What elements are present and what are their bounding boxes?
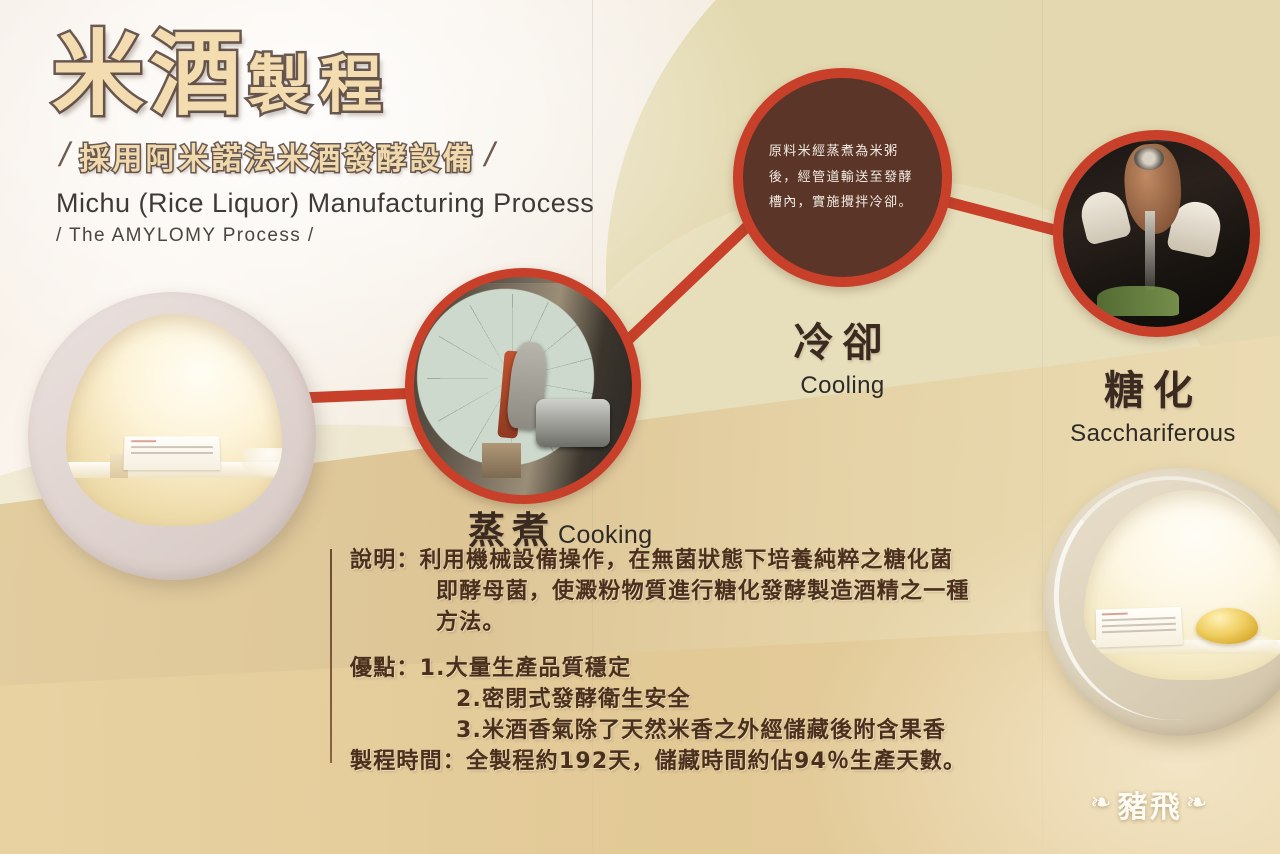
sampling-tube [1145, 211, 1154, 290]
sacchariferous-photo-ring [1053, 130, 1260, 337]
cooling-callout-text: 原料米經蒸煮為米粥後，經管道輸送至發酵槽內，實施攪拌冷卻。 [769, 139, 916, 215]
description-vertical-rule [330, 549, 332, 763]
title-subtitle-cn: 採用阿米諾法米酒發酵設備 [79, 134, 475, 178]
step-label-cooling-cn: 冷卻 [750, 310, 935, 368]
niche-right-label-card [1096, 607, 1183, 648]
card-line [131, 446, 213, 448]
merits-label: 優點： [350, 653, 420, 684]
sacchariferous-photo [1063, 140, 1250, 327]
watermark-text: 豬飛 [1118, 782, 1182, 826]
title-english: Michu (Rice Liquor) Manufacturing Proces… [56, 188, 612, 219]
card-line [1102, 623, 1176, 628]
description-line-1: 利用機械設備操作，在無菌狀態下培養純粹之糖化菌 [420, 545, 954, 576]
step-label-cooling: 冷卻 Cooling [750, 310, 935, 400]
cooling-callout-ring: 原料米經蒸煮為米粥後，經管道輸送至發酵槽內，實施攪拌冷卻。 [733, 68, 952, 287]
cooking-photo [414, 277, 632, 495]
card-line [131, 452, 213, 454]
merits-row: 3.米酒香氣除了天然米香之外經儲藏後附含果香 [350, 715, 1050, 746]
green-tray [1097, 286, 1179, 316]
wristwatch-icon [1134, 147, 1164, 169]
step-node-cooking [405, 268, 641, 504]
description-row: 說明： 利用機械設備操作，在無菌狀態下培養純粹之糖化菌 [350, 545, 1050, 576]
photo-watermark: ❧ 豬飛 ❧ [1090, 782, 1210, 826]
merits-row: 2.密閉式發酵衛生安全 [350, 684, 1050, 715]
card-line [1102, 629, 1176, 634]
cooker-motor [536, 399, 610, 447]
exhibit-panel-photo: 米酒製程 / 採用阿米諾法米酒發酵設備 / Michu (Rice Liquor… [0, 0, 1280, 854]
description-line-2: 即酵母菌，使澱粉物質進行糖化發酵製造酒精之一種 [436, 576, 970, 607]
title-cn-small: 製程 [248, 48, 392, 121]
connector-cooking-to-cooling [628, 222, 752, 340]
description-label: 說明： [350, 545, 420, 576]
description-row: 方法。 [350, 607, 1050, 638]
description-panel: 說明： 利用機械設備操作，在無菌狀態下培養純粹之糖化菌 即酵母菌，使澱粉物質進行… [330, 545, 1050, 778]
title-cn-large: 米酒 [52, 21, 248, 128]
step-label-sacchariferous: 糖化 Sacchariferous [1038, 358, 1268, 448]
title-english-sub: / The AMYLOMY Process / [56, 225, 612, 247]
cooker-crate [482, 443, 521, 478]
process-time-label: 製程時間： [350, 746, 466, 777]
panel-title-block: 米酒製程 / 採用阿米諾法米酒發酵設備 / Michu (Rice Liquor… [52, 28, 612, 247]
card-line [131, 440, 156, 442]
description-row: 即酵母菌，使澱粉物質進行糖化發酵製造酒精之一種 [350, 576, 1050, 607]
page-title: 米酒製程 [52, 28, 612, 122]
merit-item-2: 2.密閉式發酵衛生安全 [456, 684, 691, 715]
step-label-cooling-en: Cooling [750, 372, 935, 400]
valve-funnel-left [1076, 188, 1131, 246]
merits-row: 優點： 1.大量生產品質穩定 [350, 653, 1050, 684]
niche-left-label-card [123, 436, 220, 470]
merit-item-3: 3.米酒香氣除了天然米香之外經儲藏後附含果香 [456, 715, 946, 746]
step-label-sacchariferous-cn: 糖化 [1038, 358, 1268, 416]
cooking-photo-ring [405, 268, 641, 504]
step-node-sacchariferous [1053, 130, 1260, 337]
slash-right-icon: / [481, 136, 499, 175]
connector-cooling-to-sacchariferous [940, 200, 1062, 232]
process-time-value: 全製程約192天，儲藏時間約佔94％生產天數。 [466, 746, 966, 777]
card-line [1102, 613, 1128, 616]
process-time-row: 製程時間： 全製程約192天，儲藏時間約佔94％生產天數。 [350, 746, 1050, 777]
display-niche-left [28, 292, 316, 580]
step-label-sacchariferous-en: Sacchariferous [1038, 420, 1268, 448]
niche-right-specimen [1196, 608, 1258, 644]
title-subtitle-row: / 採用阿米諾法米酒發酵設備 / [60, 134, 612, 178]
description-spacer [330, 639, 1050, 653]
step-node-cooling: 原料米經蒸煮為米粥後，經管道輸送至發酵槽內，實施攪拌冷卻。 [733, 68, 952, 287]
connector-left-stub [300, 393, 420, 398]
description-line-3: 方法。 [436, 607, 506, 638]
card-line [1102, 617, 1176, 622]
wing-right-icon: ❧ [1186, 788, 1210, 818]
display-niche-right [1044, 468, 1280, 736]
wing-left-icon: ❧ [1090, 788, 1114, 818]
merit-item-1: 1.大量生產品質穩定 [420, 653, 632, 684]
slash-left-icon: / [56, 136, 74, 175]
